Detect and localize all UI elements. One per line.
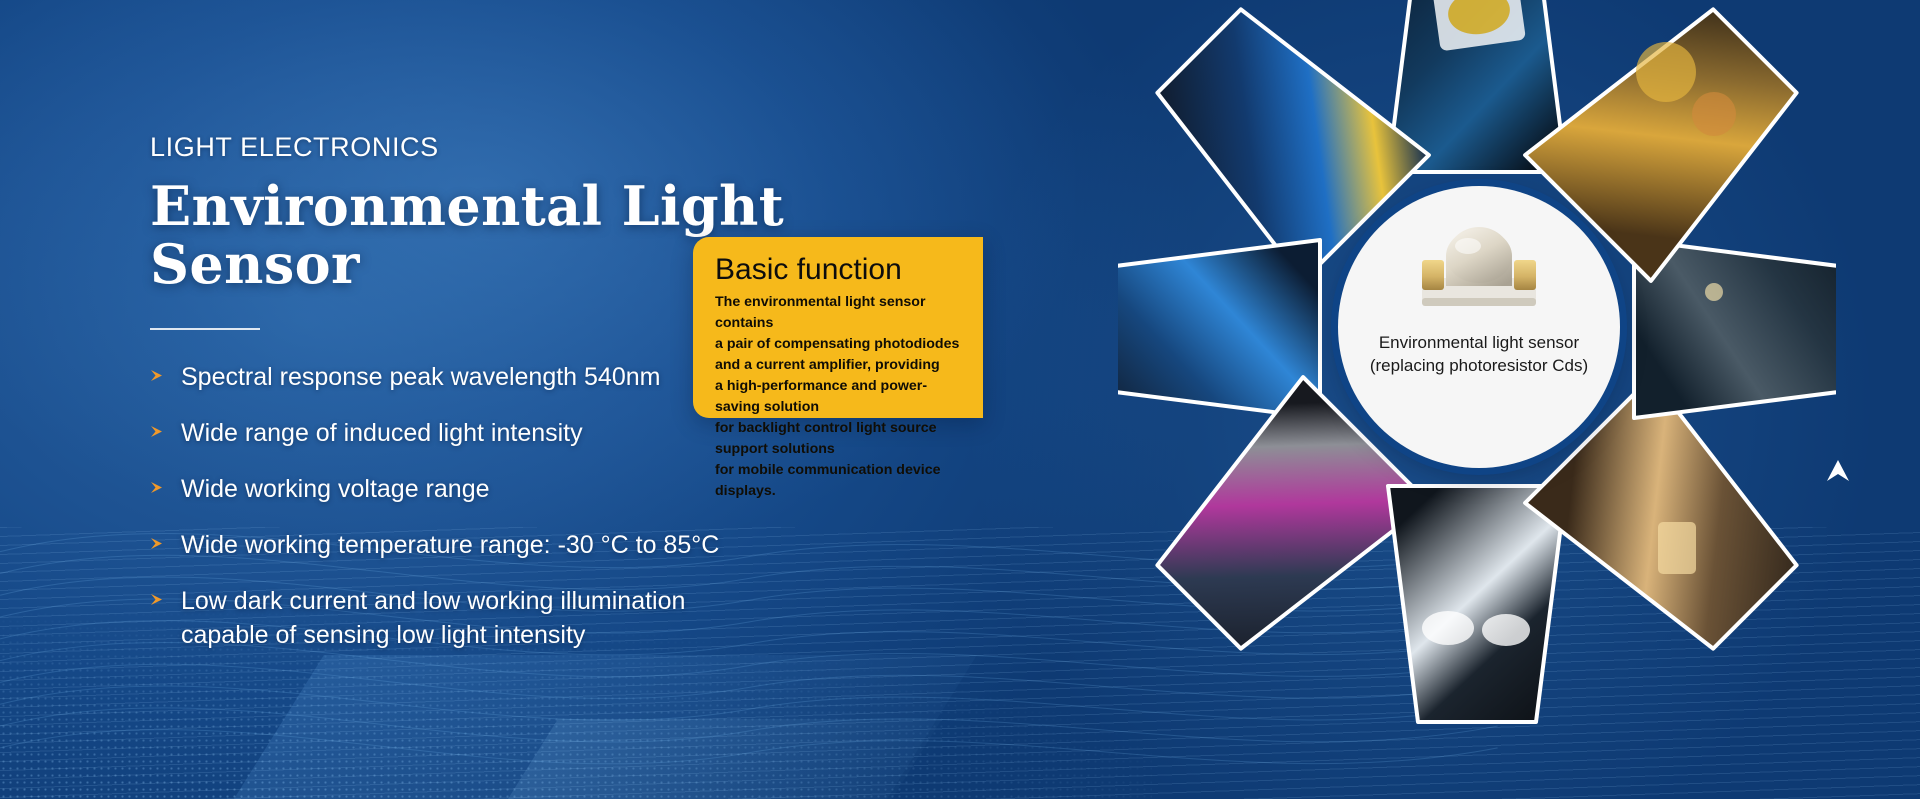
title-divider — [150, 328, 260, 330]
hub-product-circle: Environmental light sensor (replacing ph… — [1338, 186, 1620, 468]
feature-text: Wide working temperature range: -30 °C t… — [181, 528, 719, 562]
feature-text: Low dark current and low working illumin… — [181, 584, 685, 652]
eyebrow-text: LIGHT ELECTRONICS — [150, 132, 870, 163]
callout-body: The environmental light sensor contains … — [715, 292, 971, 502]
callout-title: Basic function — [715, 253, 971, 286]
feature-text: Wide working voltage range — [181, 472, 490, 506]
background-floor-shape-2 — [478, 719, 942, 799]
feature-text: Wide range of induced light intensity — [181, 416, 583, 450]
arrow-bullet-icon — [150, 481, 167, 494]
arrow-bullet-icon — [150, 593, 167, 606]
list-item: Wide working temperature range: -30 °C t… — [150, 528, 870, 562]
list-item: Low dark current and low working illumin… — [150, 584, 870, 652]
basic-function-callout: Basic functionThe environmental light se… — [693, 237, 983, 418]
arrow-bullet-icon — [150, 369, 167, 382]
wheel-segment-car-headlight — [1388, 486, 1566, 722]
hub-caption: Environmental light sensor (replacing ph… — [1370, 332, 1588, 377]
feature-text: Spectral response peak wavelength 540nm — [181, 360, 660, 394]
product-banner: LIGHT ELECTRONICS Environmental Light Se… — [0, 0, 1920, 799]
led-sensor-icon — [1408, 220, 1550, 316]
arrow-bullet-icon — [150, 425, 167, 438]
background-floor-shape — [214, 655, 977, 799]
arrow-bullet-icon — [150, 537, 167, 550]
arrow-up-icon[interactable] — [1823, 455, 1853, 485]
